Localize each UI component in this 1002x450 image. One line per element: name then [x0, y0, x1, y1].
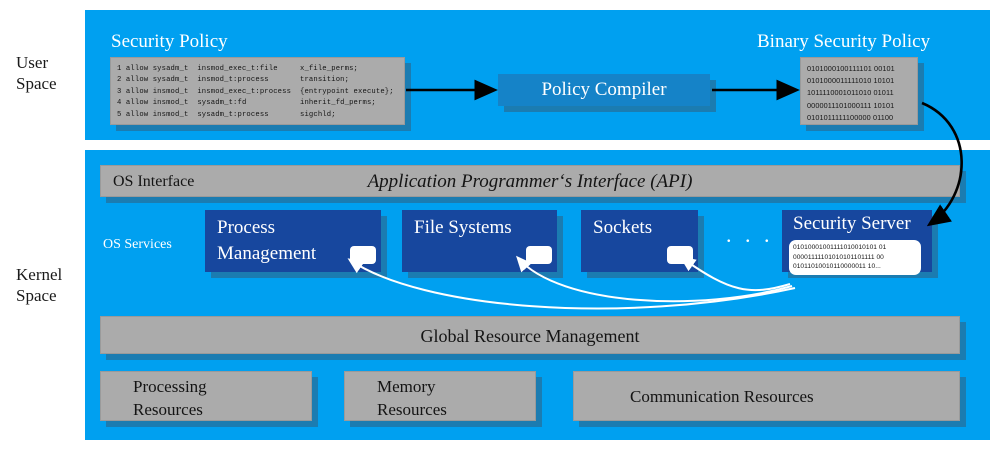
service-box-file-systems[interactable]: File Systems	[402, 210, 557, 272]
binary-security-policy-bits: 0101000100111101 00101 0101000011111010 …	[801, 58, 917, 124]
service-box-security-server[interactable]: Security Server 01010001001111010010101 …	[782, 210, 932, 272]
resource-box-communication: Communication Resources	[573, 371, 960, 421]
security-hook-sockets[interactable]	[667, 246, 693, 264]
service-box-process-management[interactable]: Process Management	[205, 210, 381, 272]
resource-box-memory: Memory Resources	[344, 371, 536, 421]
resource-label-communication: Communication Resources	[574, 372, 959, 422]
policy-compiler-box[interactable]: Policy Compiler	[498, 74, 710, 106]
resource-label-memory: Memory Resources	[345, 372, 535, 421]
os-services-label: OS Services	[103, 237, 172, 253]
service-label-file-systems: File Systems	[402, 210, 557, 241]
security-hook-process-management[interactable]	[350, 246, 376, 264]
policy-compiler-label: Policy Compiler	[498, 74, 710, 106]
security-policy-code-text: 1 allow sysadm_t insmod_exec_t:file x_fi…	[111, 58, 404, 121]
security-policy-code-box: 1 allow sysadm_t insmod_exec_t:file x_fi…	[110, 57, 405, 125]
security-hook-file-systems[interactable]	[526, 246, 552, 264]
security-policy-title: Security Policy	[111, 31, 228, 53]
os-interface-bar: OS Interface Application Programmer‘s In…	[100, 165, 960, 197]
service-box-sockets[interactable]: Sockets	[581, 210, 698, 272]
binary-security-policy-box: 0101000100111101 00101 0101000011111010 …	[800, 57, 918, 125]
api-label: Application Programmer‘s Interface (API)	[101, 166, 959, 198]
diagram-canvas: User Space Kernel Space Security Policy …	[0, 0, 1002, 450]
security-server-bits: 01010001001111010010101 01 0000111110101…	[789, 240, 921, 275]
binary-security-policy-title: Binary Security Policy	[757, 31, 930, 53]
service-label-sockets: Sockets	[581, 210, 698, 241]
services-ellipsis: . . .	[726, 222, 774, 248]
global-resource-management-bar: Global Resource Management	[100, 316, 960, 354]
resource-label-processing: Processing Resources	[101, 372, 311, 421]
kernel-space-label: Kernel Space	[16, 264, 62, 307]
global-resource-management-label: Global Resource Management	[101, 317, 959, 355]
user-space-label: User Space	[16, 52, 57, 95]
resource-box-processing: Processing Resources	[100, 371, 312, 421]
security-server-label: Security Server	[782, 210, 932, 236]
